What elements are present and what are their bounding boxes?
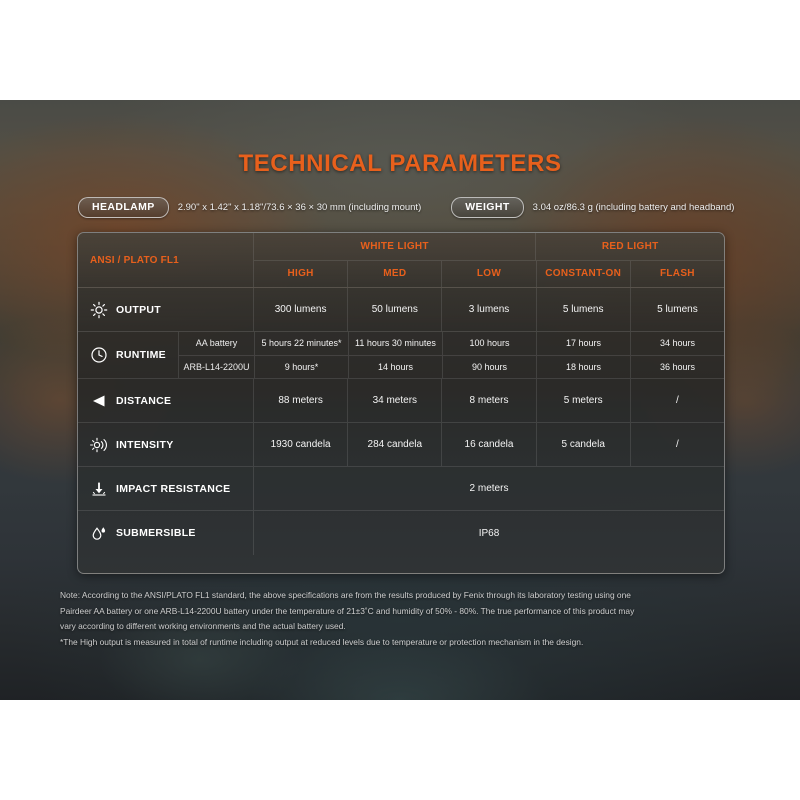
cell-output-flash: 5 lumens xyxy=(631,288,724,331)
runtime-subrow-aa: AA battery 5 hours 22 minutes* 11 hours … xyxy=(179,332,724,356)
impact-arrow-icon xyxy=(90,480,108,498)
headlamp-dimensions: 2.90" x 1.42" x 1.18"/73.6 × 36 × 30 mm … xyxy=(178,202,422,213)
page-title: TECHNICAL PARAMETERS xyxy=(0,150,800,178)
cell-output-low: 3 lumens xyxy=(442,288,536,331)
table-row-runtime: RUNTIME AA battery 5 hours 22 minutes* 1… xyxy=(78,332,724,379)
cell-runtime-arb-low: 90 hours xyxy=(443,356,537,379)
footnote: Note: According to the ANSI/PLATO FL1 st… xyxy=(60,588,744,650)
mode-high: HIGH xyxy=(254,261,348,288)
label-submersible: SUBMERSIBLE xyxy=(116,527,196,539)
beam-intensity-icon xyxy=(90,436,108,454)
table-row-intensity: INTENSITY 1930 candela 284 candela 16 ca… xyxy=(78,423,724,467)
mode-low: LOW xyxy=(442,261,536,288)
specifications-table: ANSI / PLATO FL1 WHITE LIGHT RED LIGHT H… xyxy=(77,232,725,574)
values-distance: 88 meters 34 meters 8 meters 5 meters / xyxy=(254,379,724,422)
table-row-output: OUTPUT 300 lumens 50 lumens 3 lumens 5 l… xyxy=(78,288,724,332)
cell-distance-high: 88 meters xyxy=(254,379,348,422)
headlamp-pill: HEADLAMP xyxy=(78,197,169,218)
footnote-line-2: Pairdeer AA battery or one ARB-L14-2200U… xyxy=(60,604,744,620)
footnote-line-1: Note: According to the ANSI/PLATO FL1 st… xyxy=(60,588,744,604)
cell-distance-low: 8 meters xyxy=(442,379,536,422)
footnote-line-3: vary according to different working envi… xyxy=(60,619,744,635)
header-white-light: WHITE LIGHT xyxy=(254,233,536,260)
cell-submersible-value: IP68 xyxy=(254,511,724,555)
weight-pill: WEIGHT xyxy=(451,197,523,218)
water-drop-icon xyxy=(90,524,108,542)
cell-impact-resistance-value: 2 meters xyxy=(254,467,724,510)
cell-runtime-aa-flash: 34 hours xyxy=(631,332,724,355)
mode-med: MED xyxy=(348,261,442,288)
cell-runtime-arb-flash: 36 hours xyxy=(631,356,724,379)
cell-runtime-aa-low: 100 hours xyxy=(443,332,537,355)
cell-intensity-flash: / xyxy=(631,423,724,466)
header-right: WHITE LIGHT RED LIGHT HIGH MED LOW CONST… xyxy=(254,233,724,287)
table-row-submersible: SUBMERSIBLE IP68 xyxy=(78,511,724,555)
row-label-impact-resistance: IMPACT RESISTANCE xyxy=(78,467,254,510)
mode-constant-on: CONSTANT-ON xyxy=(537,261,631,288)
row-label-output: OUTPUT xyxy=(78,288,254,331)
page-root: TECHNICAL PARAMETERS HEADLAMP 2.90" x 1.… xyxy=(0,0,800,800)
cell-runtime-aa-med: 11 hours 30 minutes xyxy=(349,332,443,355)
cell-output-med: 50 lumens xyxy=(348,288,442,331)
beam-triangle-icon xyxy=(90,392,108,410)
weight-value: 3.04 oz/86.3 g (including battery and he… xyxy=(533,202,735,213)
cell-runtime-arb-high: 9 hours* xyxy=(255,356,349,379)
table-header: ANSI / PLATO FL1 WHITE LIGHT RED LIGHT H… xyxy=(78,233,724,288)
clock-icon xyxy=(90,346,108,364)
label-intensity: INTENSITY xyxy=(116,439,174,451)
battery-type-arb: ARB-L14-2200U xyxy=(179,356,255,379)
cell-intensity-high: 1930 candela xyxy=(254,423,348,466)
cell-distance-flash: / xyxy=(631,379,724,422)
values-output: 300 lumens 50 lumens 3 lumens 5 lumens 5… xyxy=(254,288,724,331)
light-type-row: WHITE LIGHT RED LIGHT xyxy=(254,233,724,261)
cell-intensity-med: 284 candela xyxy=(348,423,442,466)
row-label-distance: DISTANCE xyxy=(78,379,254,422)
label-output: OUTPUT xyxy=(116,304,161,316)
mode-header-row: HIGH MED LOW CONSTANT-ON FLASH xyxy=(254,261,724,288)
mode-flash: FLASH xyxy=(631,261,724,288)
runtime-subrow-arb: ARB-L14-2200U 9 hours* 14 hours 90 hours… xyxy=(179,356,724,379)
weight-group: WEIGHT 3.04 oz/86.3 g (including battery… xyxy=(451,197,734,218)
cell-runtime-aa-constant-on: 17 hours xyxy=(537,332,631,355)
cell-runtime-arb-constant-on: 18 hours xyxy=(537,356,631,379)
standard-label: ANSI / PLATO FL1 xyxy=(78,233,254,287)
values-runtime-arb: 9 hours* 14 hours 90 hours 18 hours 36 h… xyxy=(255,356,724,379)
table-row-impact-resistance: IMPACT RESISTANCE 2 meters xyxy=(78,467,724,511)
cell-distance-med: 34 meters xyxy=(348,379,442,422)
table-row-distance: DISTANCE 88 meters 34 meters 8 meters 5 … xyxy=(78,379,724,423)
values-runtime-aa: 5 hours 22 minutes* 11 hours 30 minutes … xyxy=(255,332,724,355)
label-distance: DISTANCE xyxy=(116,395,171,407)
sun-icon xyxy=(90,301,108,319)
row-label-intensity: INTENSITY xyxy=(78,423,254,466)
header-red-light: RED LIGHT xyxy=(536,233,724,260)
cell-output-constant-on: 5 lumens xyxy=(537,288,631,331)
cell-distance-constant-on: 5 meters xyxy=(537,379,631,422)
footnote-line-4: *The High output is measured in total of… xyxy=(60,635,744,651)
values-intensity: 1930 candela 284 candela 16 candela 5 ca… xyxy=(254,423,724,466)
cell-runtime-arb-med: 14 hours xyxy=(349,356,443,379)
cell-intensity-constant-on: 5 candela xyxy=(537,423,631,466)
cell-runtime-aa-high: 5 hours 22 minutes* xyxy=(255,332,349,355)
label-runtime: RUNTIME xyxy=(116,349,166,361)
cell-output-high: 300 lumens xyxy=(254,288,348,331)
runtime-body: AA battery 5 hours 22 minutes* 11 hours … xyxy=(179,332,724,378)
spec-summary-row: HEADLAMP 2.90" x 1.42" x 1.18"/73.6 × 36… xyxy=(78,196,738,218)
battery-type-aa: AA battery xyxy=(179,332,255,355)
row-label-runtime: RUNTIME xyxy=(78,332,179,378)
row-label-submersible: SUBMERSIBLE xyxy=(78,511,254,555)
label-impact-resistance: IMPACT RESISTANCE xyxy=(116,483,230,495)
cell-intensity-low: 16 candela xyxy=(442,423,536,466)
